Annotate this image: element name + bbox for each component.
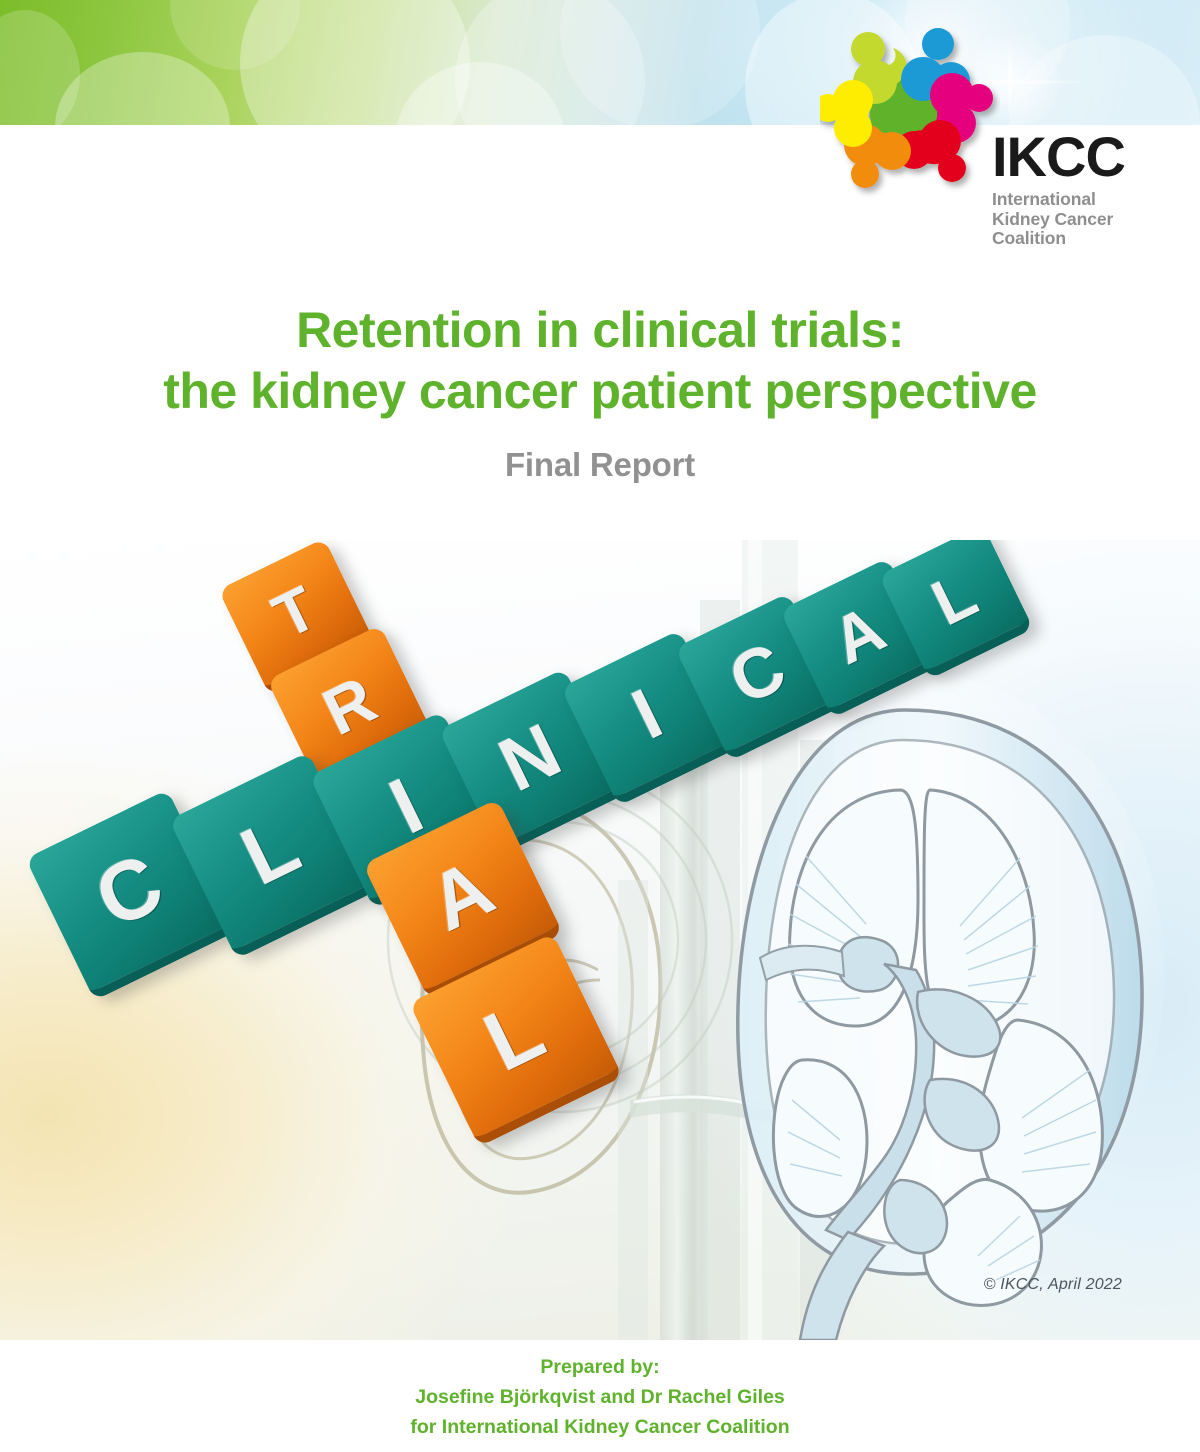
logo-org-line-2: Kidney Cancer (992, 210, 1152, 230)
letter-glyph: N (486, 707, 573, 809)
letter-glyph: L (227, 798, 313, 904)
ikcc-logo: IKCC International Kidney Cancer Coaliti… (820, 22, 1150, 272)
cover-hero-image: TRCLINICALAL © IKCC, April 2022 (0, 540, 1200, 1340)
letter-glyph: R (311, 660, 387, 749)
title-block: Retention in clinical trials: the kidney… (0, 300, 1200, 484)
logo-org-line-1: International (992, 190, 1152, 210)
logo-org-name: International Kidney Cancer Coalition (992, 190, 1152, 249)
logo-wordmark: IKCC (992, 130, 1152, 183)
copyright-notice: © IKCC, April 2022 (984, 1276, 1122, 1294)
logo-org-line-3: Coalition (992, 229, 1152, 249)
footer-line-1: Prepared by: (0, 1352, 1200, 1382)
ikcc-logo-mark (820, 22, 1000, 202)
footer-line-3: for International Kidney Cancer Coalitio… (0, 1412, 1200, 1442)
page-title: Retention in clinical trials: the kidney… (0, 300, 1200, 422)
kidney-cross-section (738, 710, 1142, 1340)
letter-glyph: T (262, 573, 327, 653)
letter-glyph: L (920, 556, 988, 640)
letter-glyph: I (620, 673, 674, 755)
logo-person-yellow (820, 80, 873, 147)
letter-glyph: L (470, 981, 559, 1091)
letter-glyph: C (80, 834, 177, 948)
page-title-line-1: Retention in clinical trials: (0, 300, 1200, 361)
prepared-by-footer: Prepared by: Josefine Björkqvist and Dr … (0, 1352, 1200, 1443)
footer-line-2: Josefine Björkqvist and Dr Rachel Giles (0, 1382, 1200, 1412)
letter-glyph: A (415, 841, 507, 949)
bokeh-circle (55, 52, 230, 125)
letter-glyph: A (820, 589, 896, 678)
page-title-line-2: the kidney cancer patient perspective (0, 361, 1200, 422)
letter-glyph: C (717, 626, 798, 720)
page-subtitle: Final Report (0, 446, 1200, 484)
